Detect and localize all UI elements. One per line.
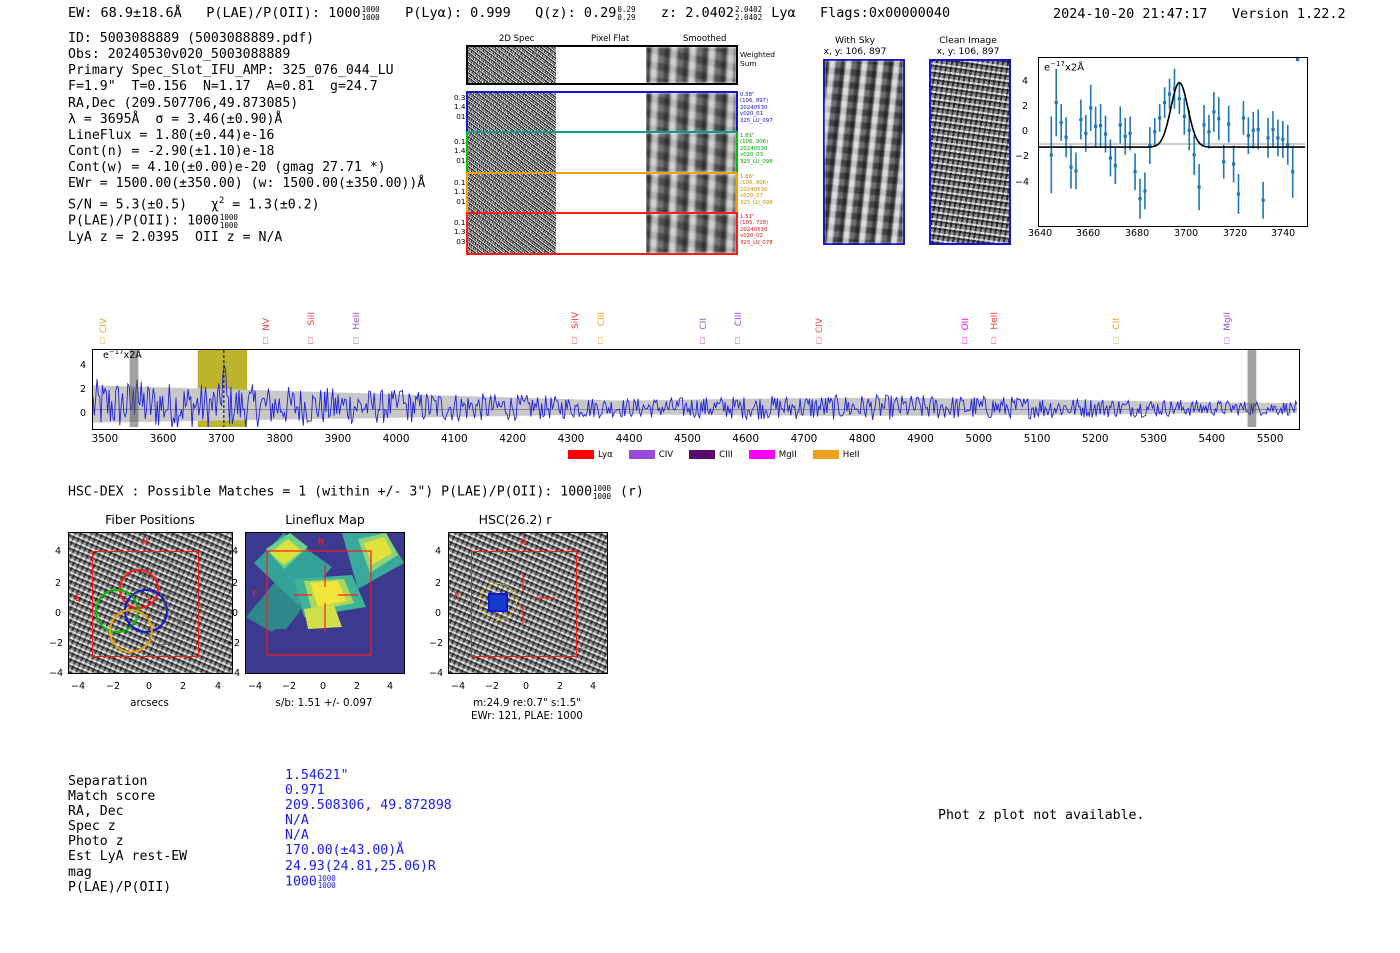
cutout-with-sky-label: With Sky x, y: 106, 897 <box>812 35 898 57</box>
match-table-values: 1.54621" 0.971 209.508306, 49.872898 N/A… <box>285 768 452 889</box>
spec-xtick-3500: 3500 <box>92 433 119 445</box>
header-z-suffix: Lyα <box>771 5 795 21</box>
hsc-neighbor-circle <box>557 615 593 651</box>
info-id: ID: 5003088889 (5003088889.pdf) <box>68 31 425 47</box>
match-table-labels: Separation Match score RA, Dec Spec z Ph… <box>68 774 187 895</box>
spec-xtick-4900: 4900 <box>907 433 934 445</box>
legend-swatch-mgii <box>749 450 775 459</box>
info-radec: RA,Dec (209.507706,49.873085) <box>68 96 425 112</box>
legend-item-lyα: Lyα <box>568 450 613 460</box>
panel-0-xtick-4: 4 <box>215 681 221 692</box>
hsc-dex-summary: HSC-DEX : Possible Matches = 1 (within +… <box>68 484 644 500</box>
spec-xtick-4200: 4200 <box>499 433 526 445</box>
match-value-plae: 100010001000 <box>285 874 452 890</box>
match-label-photoz: Photo z <box>68 834 187 849</box>
panel-2-ytick-2: 2 <box>435 578 441 589</box>
fiber-1-xy: (106, 897) <box>740 98 773 104</box>
panel-2-xtick-2: 2 <box>557 681 563 692</box>
cutout-with-sky-title: With Sky <box>812 35 898 46</box>
full-spectrum-svg <box>93 350 1297 427</box>
match-label-specz: Spec z <box>68 819 187 834</box>
fiber-2-xy: (106, 906) <box>740 139 773 145</box>
twod-title-pixelflat: Pixel Flat <box>591 34 629 44</box>
match-value-separation: 1.54621" <box>285 768 452 783</box>
zoom-xtick-3700: 3700 <box>1174 228 1198 239</box>
panel-hsc-caption: m:24.9 re:0.7" s:1.5" EWr: 121, PLAE: 10… <box>448 697 606 723</box>
fiber-3-meta: 1.86" (106, 906) 20240530 v020_07 325_LU… <box>740 174 773 206</box>
fiber-2-strip <box>466 131 738 174</box>
panel-hsc-caption-line2: EWr: 121, PLAE: 1000 <box>448 710 606 723</box>
spec-line-label-ciii-7: CIII <box>734 312 744 326</box>
spec-xtick-4700: 4700 <box>791 433 818 445</box>
spec-xtick-4100: 4100 <box>441 433 468 445</box>
panel-2-ytick--2: −2 <box>429 638 443 649</box>
spec-xtick-3700: 3700 <box>208 433 235 445</box>
panel-lineflux-map-image[interactable]: N E <box>245 532 405 674</box>
panel-2-xtick--4: −4 <box>451 681 465 692</box>
cutout-clean-coords: x, y: 106, 897 <box>918 46 1018 57</box>
spec-line-label-cii-6: CII <box>699 318 709 330</box>
hsc-compass-e: E <box>454 591 460 602</box>
panel-1-ytick-0: 0 <box>232 608 238 619</box>
header-flags: Flags:0x00000040 <box>820 5 950 21</box>
info-sn-text: S/N = 5.3(±0.5) χ <box>68 197 219 212</box>
panel-2-ytick-0: 0 <box>435 608 441 619</box>
spec-xtick-5300: 5300 <box>1140 433 1167 445</box>
spectrum-annotation: e−17x2Å <box>103 348 142 361</box>
panel-fiber-positions-image[interactable]: + N E <box>68 532 233 674</box>
spec-xtick-5400: 5400 <box>1198 433 1225 445</box>
zoom-ytick-0: 0 <box>1022 126 1028 137</box>
info-plae: P(LAE)/P(OII): 100010001000 <box>68 213 425 230</box>
cutout-clean-image <box>929 59 1011 245</box>
hsc-dex-filter: (r) <box>620 485 644 500</box>
spec-line-label-cii-11: CII <box>1112 318 1122 330</box>
timestamp: 2024-10-20 21:47:17 <box>1053 6 1207 22</box>
panel-1-ytick--2: −2 <box>226 638 240 649</box>
header-plya: P(Lyα): 0.999 <box>405 5 511 21</box>
panel-2-ytick-4: 4 <box>435 546 441 557</box>
hsc-dex-text: HSC-DEX : Possible Matches = 1 (within +… <box>68 485 592 500</box>
legend-item-heii: HeII <box>813 450 860 460</box>
panel-2-xtick-0: 0 <box>523 681 529 692</box>
header-qz-label: Q(z): 0.29 <box>535 5 616 21</box>
header-plae-label: P(LAE)/P(OII): 1000 <box>206 5 360 21</box>
match-label-score: Match score <box>68 789 187 804</box>
spec-xtick-4500: 4500 <box>674 433 701 445</box>
weighted-sum-line1: Weighted <box>740 50 775 59</box>
fiber-3-strip <box>466 172 738 215</box>
legend-item-mgii: MgII <box>749 450 797 460</box>
header-summary-line: EW: 68.9±18.6Å P(LAE)/P(OII): 1000100010… <box>68 5 950 21</box>
spec-xtick-4800: 4800 <box>849 433 876 445</box>
match-value-score: 0.971 <box>285 783 452 798</box>
match-label-estew: Est LyA rest-EW <box>68 849 187 864</box>
legend-item-civ: CIV <box>629 450 673 460</box>
spectrum-legend: LyαCIVCIIIMgIIHeII <box>568 450 876 460</box>
fiber-4-slot: 325_LU_078 <box>740 240 773 246</box>
panel-1-xtick--4: −4 <box>248 681 262 692</box>
panel-0-ytick--4: −4 <box>49 668 63 679</box>
zoom-xtick-3660: 3660 <box>1076 228 1100 239</box>
weighted-sum-pixelflat-image <box>556 47 646 83</box>
match-value-plae-den: 1000 <box>318 882 336 890</box>
header-ew: EW: 68.9±18.6Å <box>68 5 182 21</box>
header-z-den: 2.0402 <box>735 14 762 22</box>
match-value-photoz: N/A <box>285 828 452 843</box>
panel-1-xtick-2: 2 <box>354 681 360 692</box>
spec-line-tick-9: ⎕ <box>962 337 967 347</box>
twod-title-2dspec: 2D Spec <box>499 34 534 44</box>
spec-xtick-3900: 3900 <box>325 433 352 445</box>
zoom-plot-svg <box>1039 58 1305 224</box>
panel-0-ytick--2: −2 <box>49 638 63 649</box>
panel-2-xtick-4: 4 <box>590 681 596 692</box>
spec-line-tick-3: ⎕ <box>353 337 358 347</box>
fiber-3-slot: 325_LU_098 <box>740 200 773 206</box>
header-plae-den: 1000 <box>362 14 380 22</box>
zoom-xtick-3680: 3680 <box>1125 228 1149 239</box>
info-obs: Obs: 20240530v020_5003088889 <box>68 47 425 63</box>
header-z-label: z: 2.0402 <box>661 5 734 21</box>
full-spectrum-panel: e−17x2Å <box>92 349 1300 430</box>
weighted-sum-smoothed-image <box>646 47 736 83</box>
spec-ytick-2: 2 <box>80 384 86 395</box>
spec-line-label-ciii-5: CIII <box>597 312 607 326</box>
spec-xtick-4600: 4600 <box>732 433 759 445</box>
legend-item-ciii: CIII <box>689 450 733 460</box>
spec-line-label-heii-3: HeII <box>352 312 362 330</box>
spec-line-tick-11: ⎕ <box>1113 337 1118 347</box>
panel-0-xtick-2: 2 <box>180 681 186 692</box>
spec-line-tick-7: ⎕ <box>735 337 740 347</box>
fiber-1-meta: 0.38" (106, 897) 20240530 v020_01 325_LU… <box>740 92 773 124</box>
spec-line-tick-10: ⎕ <box>991 337 996 347</box>
spec-line-tick-8: ⎕ <box>816 337 821 347</box>
zoom-xtick-3640: 3640 <box>1028 228 1052 239</box>
weighted-sum-label: Weighted Sum <box>740 50 775 68</box>
fiber-1-slot: 325_LU_097 <box>740 118 773 124</box>
panel-0-ytick-2: 2 <box>55 578 61 589</box>
legend-swatch-heii <box>813 450 839 459</box>
spec-ytick-0: 0 <box>80 408 86 419</box>
spec-line-tick-1: ⎕ <box>263 337 268 347</box>
cutout-clean-image-label: Clean Image x, y: 106, 897 <box>918 35 1018 57</box>
weighted-sum-strip <box>466 45 738 85</box>
cutout-with-sky-image <box>823 59 905 245</box>
match-value-plae-main: 1000 <box>285 874 317 889</box>
info-redshifts: LyA z = 2.0395 OII z = N/A <box>68 230 425 246</box>
cutout-with-sky-coords: x, y: 106, 897 <box>812 46 898 57</box>
spec-line-label-civ-8: CIV <box>815 318 825 333</box>
spec-line-tick-0: ⎕ <box>100 337 105 347</box>
fiber-4-xy: (105, 728) <box>740 220 773 226</box>
detection-info-block: ID: 5003088889 (5003088889.pdf) Obs: 202… <box>68 31 425 246</box>
photz-note: Phot z plot not available. <box>938 808 1144 823</box>
info-ewr: EWr = 1500.00(±350.00) (w: 1500.00(±350.… <box>68 176 425 192</box>
header-qz-den: 0.29 <box>617 14 635 22</box>
twod-title-smoothed: Smoothed <box>683 34 726 44</box>
panel-hsc-r-image[interactable]: N E <box>448 532 608 674</box>
panel-2-ytick--4: −4 <box>429 668 443 679</box>
spec-xtick-5200: 5200 <box>1082 433 1109 445</box>
panel-0-xtick-0: 0 <box>146 681 152 692</box>
panel-1-ytick-4: 4 <box>232 546 238 557</box>
lineflux-compass-e: E <box>252 589 258 600</box>
panel-2-xtick--2: −2 <box>485 681 499 692</box>
spec-xtick-4000: 4000 <box>383 433 410 445</box>
spec-xtick-3800: 3800 <box>266 433 293 445</box>
info-cont-n: Cont(n) = -2.90(±1.10)e-18 <box>68 144 425 160</box>
fiber-center-cross: + <box>145 593 152 606</box>
panel-hsc-r-title: HSC(26.2) r <box>425 512 605 527</box>
zoom-xtick-3720: 3720 <box>1223 228 1247 239</box>
info-primary-spec-slot: Primary Spec_Slot_IFU_AMP: 325_076_044_L… <box>68 63 425 79</box>
info-seeing-params: F=1.9" T=0.156 N=1.17 A=0.81 g=24.7 <box>68 79 425 95</box>
hsc-crosshair <box>449 533 607 673</box>
info-chi2-text: = 1.3(±0.2) <box>224 197 319 212</box>
spec-line-label-mgii-12: MgII <box>1223 312 1233 331</box>
fiber-circle-grey-4 <box>145 609 181 645</box>
panel-1-xtick--2: −2 <box>282 681 296 692</box>
spec-line-tick-4: ⎕ <box>572 337 577 347</box>
spec-line-label-heii-10: HeII <box>990 312 1000 330</box>
panel-1-xtick-4: 4 <box>387 681 393 692</box>
zoom-ytick-4: 4 <box>1022 76 1028 87</box>
fiber-2-meta: 1.81" (106, 906) 20240530 v020_03 325_LU… <box>740 133 773 165</box>
legend-swatch-ciii <box>689 450 715 459</box>
fiber-circle-grey-1 <box>107 561 143 597</box>
match-label-radec: RA, Dec <box>68 804 187 819</box>
fiber-3-xy: (106, 906) <box>740 180 773 186</box>
spec-line-label-oii-9: OII <box>961 318 971 330</box>
fiber-4-meta: 1.51" (105, 728) 20240530 v020_02 325_LU… <box>740 214 773 246</box>
match-value-estew: 170.00(±43.00)Å <box>285 843 452 858</box>
match-value-mag: 24.93(24.81,25.06)R <box>285 859 452 874</box>
zoom-xtick-3740: 3740 <box>1271 228 1295 239</box>
spec-xtick-3600: 3600 <box>150 433 177 445</box>
weighted-sum-2dspec-image <box>468 47 556 83</box>
lineflux-map-svg <box>246 533 404 673</box>
panel-1-xtick-0: 0 <box>320 681 326 692</box>
fiber-1-strip <box>466 91 738 134</box>
lineflux-compass-n: N <box>318 537 324 548</box>
spec-line-label-nv-1: NV <box>262 318 272 331</box>
panel-1-ytick--4: −4 <box>226 668 240 679</box>
match-label-plae: P(LAE)/P(OII) <box>68 880 187 895</box>
zoom-ytick-2: 2 <box>1022 101 1028 112</box>
spec-line-tick-12: ⎕ <box>1224 337 1229 347</box>
info-sn-chi2: S/N = 5.3(±0.5) χ2 = 1.3(±0.2) <box>68 193 425 214</box>
panel-1-ytick-2: 2 <box>232 578 238 589</box>
zoom-ytick-neg4: −4 <box>1015 177 1029 188</box>
spec-line-label-siii-2: SiII <box>307 312 317 326</box>
panel-lineflux-caption: s/b: 1.51 +/- 0.097 <box>245 697 403 710</box>
spec-xtick-4400: 4400 <box>616 433 643 445</box>
panel-fiber-positions-title: Fiber Positions <box>60 512 240 527</box>
spec-xtick-4300: 4300 <box>558 433 585 445</box>
hsc-dex-plae-den: 1000 <box>593 493 611 501</box>
fiber-2-slot: 325_LU_098 <box>740 159 773 165</box>
panel-0-xtick--4: −4 <box>71 681 85 692</box>
spec-line-tick-2: ⎕ <box>308 337 313 347</box>
panel-hsc-caption-line1: m:24.9 re:0.7" s:1.5" <box>448 697 606 710</box>
fiber-compass-e: E <box>75 593 81 604</box>
match-label-mag: mag <box>68 865 187 880</box>
zoom-line-profile-plot: e−17x2Å <box>1038 57 1308 227</box>
panel-0-ytick-4: 4 <box>55 546 61 557</box>
zoom-plot-annotation: e−17x2Å <box>1044 60 1084 73</box>
match-value-radec: 209.508306, 49.872898 <box>285 798 452 813</box>
panel-lineflux-map-title: Lineflux Map <box>230 512 420 527</box>
spec-ytick-4: 4 <box>80 360 86 371</box>
fiber-compass-n: N <box>142 537 148 548</box>
hsc-compass-n: N <box>520 537 526 548</box>
spec-xtick-5100: 5100 <box>1024 433 1051 445</box>
info-cont-w: Cont(w) = 4.10(±0.00)e-20 (gmag 27.71 *) <box>68 160 425 176</box>
info-plae-label: P(LAE)/P(OII): 1000 <box>68 214 219 229</box>
spec-line-tick-5: ⎕ <box>598 337 603 347</box>
info-lineflux: LineFlux = 1.80(±0.44)e-16 <box>68 128 425 144</box>
match-label-separation: Separation <box>68 774 187 789</box>
zoom-ytick-neg2: −2 <box>1015 151 1029 162</box>
panel-0-ytick-0: 0 <box>55 608 61 619</box>
header-timestamp-version: 2024-10-20 21:47:17 Version 1.22.2 <box>1053 6 1346 22</box>
spec-xtick-5000: 5000 <box>965 433 992 445</box>
legend-swatch-civ <box>629 450 655 459</box>
spec-xtick-5500: 5500 <box>1257 433 1284 445</box>
spec-line-label-siiv-4: SiIV <box>571 312 581 329</box>
fiber-4-strip <box>466 212 738 255</box>
match-value-specz: N/A <box>285 813 452 828</box>
cutout-clean-title: Clean Image <box>918 35 1018 46</box>
version: Version 1.22.2 <box>1232 6 1346 22</box>
info-wavelength-sigma: λ = 3695Å σ = 3.46(±0.90)Å <box>68 112 425 128</box>
legend-swatch-lyα <box>568 450 594 459</box>
panel-fiber-caption: arcsecs <box>68 697 231 710</box>
panel-0-xtick--2: −2 <box>106 681 120 692</box>
spec-line-label-civ-0: CIV <box>99 318 109 333</box>
spec-line-tick-6: ⎕ <box>700 337 705 347</box>
info-plae-den: 1000 <box>220 222 238 230</box>
weighted-sum-line2: Sum <box>740 59 775 68</box>
